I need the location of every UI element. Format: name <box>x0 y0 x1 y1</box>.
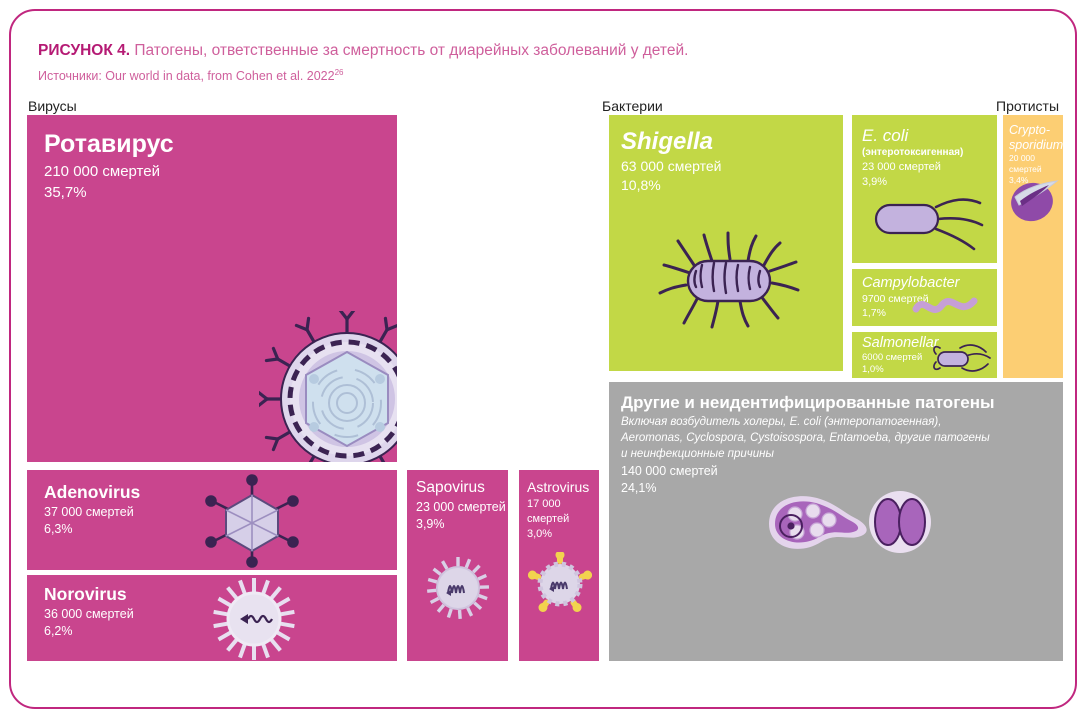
tile-astrovirus-deaths: 17 000 смертей <box>527 497 599 527</box>
tile-rotavirus-percent: 35,7% <box>44 182 174 203</box>
tile-cryptosporidium[interactable]: Crypto- sporidium 20 000 смертей 3,4% <box>1003 115 1063 378</box>
figure-label: РИСУНОК 4. <box>38 42 130 59</box>
tile-shigella[interactable]: Shigella 63 000 смертей 10,8% <box>609 115 843 371</box>
tile-shigella-deaths: 63 000 смертей <box>621 157 721 176</box>
tile-astrovirus-percent: 3,0% <box>527 527 599 542</box>
campylobacter-icon <box>912 293 982 321</box>
tile-crypto-title-line2: sporidium <box>1009 138 1063 153</box>
tile-ecoli-deaths: 23 000 смертей <box>862 160 963 175</box>
tile-rotavirus[interactable]: Ротавирус 210 000 смертей 35,7% <box>27 115 397 462</box>
tile-other-deaths: 140 000 смертей <box>621 463 995 480</box>
tile-salmonella-percent: 1,0% <box>862 364 939 376</box>
tile-sapovirus-title: Sapovirus <box>416 478 506 498</box>
tile-salmonella[interactable]: Salmonellar 6000 смертей 1,0% <box>852 332 997 378</box>
tile-other-desc-line2: Aeromonas, Cyclospora, Cystoisospora, En… <box>621 430 995 446</box>
tile-other-desc-line3: и неинфекционные причины <box>621 446 995 462</box>
figure-source-text: Источники: Our world in data, from Cohen… <box>38 69 335 83</box>
tile-norovirus-percent: 6,2% <box>44 623 134 640</box>
tile-adenovirus-deaths: 37 000 смертей <box>44 504 140 521</box>
tile-crypto-title-line1: Crypto- <box>1009 123 1063 138</box>
astrovirus-icon <box>528 552 592 616</box>
tile-norovirus-title: Norovirus <box>44 583 134 605</box>
tile-other-pathogens[interactable]: Другие и неидентифицированные патогены В… <box>609 382 1063 661</box>
tile-ecoli-title: E. coli <box>862 125 963 146</box>
tile-adenovirus-title: Adenovirus <box>44 481 140 503</box>
tile-astrovirus-title: Astrovirus <box>527 478 599 496</box>
adenovirus-icon <box>202 474 302 568</box>
ecoli-icon <box>870 191 990 253</box>
cryptosporidium-icon <box>1007 177 1061 225</box>
tile-ecoli-qualifier: (энтеротоксигенная) <box>862 146 963 160</box>
tile-sapovirus-deaths: 23 000 смертей <box>416 499 506 516</box>
tile-campylobacter[interactable]: Campylobacter 9700 смертей 1,7% <box>852 269 997 326</box>
sapovirus-icon <box>425 555 491 621</box>
figure-title: РИСУНОК 4. Патогены, ответственные за см… <box>38 41 1058 61</box>
salmonella-icon <box>930 342 992 376</box>
tile-crypto-deaths: 20 000 смертей <box>1009 153 1063 175</box>
tile-norovirus-deaths: 36 000 смертей <box>44 606 134 623</box>
tile-rotavirus-deaths: 210 000 смертей <box>44 161 174 182</box>
entamoeba-cyst-icon <box>861 486 939 558</box>
figure-source: Источники: Our world in data, from Cohen… <box>38 65 1058 84</box>
tile-shigella-percent: 10,8% <box>621 176 721 195</box>
column-header-protists: Протисты <box>996 98 1059 114</box>
figure-header: РИСУНОК 4. Патогены, ответственные за см… <box>38 41 1058 84</box>
figure-frame: РИСУНОК 4. Патогены, ответственные за см… <box>9 9 1077 709</box>
tile-salmonella-title: Salmonellar <box>862 335 939 352</box>
tile-astrovirus[interactable]: Astrovirus 17 000 смертей 3,0% <box>519 470 599 661</box>
tile-other-desc-line1: Включая возбудитель холеры, E. coli (энт… <box>621 414 995 430</box>
tile-campylobacter-title: Campylobacter <box>862 274 960 292</box>
tile-ecoli[interactable]: E. coli (энтеротоксигенная) 23 000 смерт… <box>852 115 997 263</box>
tile-ecoli-percent: 3,9% <box>862 175 963 190</box>
tile-shigella-title: Shigella <box>621 127 721 156</box>
shigella-icon <box>654 225 802 335</box>
tile-other-title: Другие и неидентифицированные патогены <box>621 392 995 414</box>
tile-sapovirus[interactable]: Sapovirus 23 000 смертей 3,9% <box>407 470 508 661</box>
norovirus-icon <box>212 578 296 660</box>
tile-sapovirus-percent: 3,9% <box>416 516 506 533</box>
figure-title-text: Патогены, ответственные за смертность от… <box>130 42 688 59</box>
tile-salmonella-deaths: 6000 смертей <box>862 352 939 364</box>
tile-adenovirus-percent: 6,3% <box>44 521 140 538</box>
figure-source-ref: 26 <box>335 68 344 77</box>
column-header-viruses: Вирусы <box>28 98 77 114</box>
tile-rotavirus-title: Ротавирус <box>44 129 174 159</box>
rotavirus-icon <box>259 311 397 462</box>
tile-adenovirus[interactable]: Adenovirus 37 000 смертей 6,3% <box>27 470 397 570</box>
tile-norovirus[interactable]: Norovirus 36 000 смертей 6,2% <box>27 575 397 661</box>
column-header-bacteria: Бактерии <box>602 98 663 114</box>
